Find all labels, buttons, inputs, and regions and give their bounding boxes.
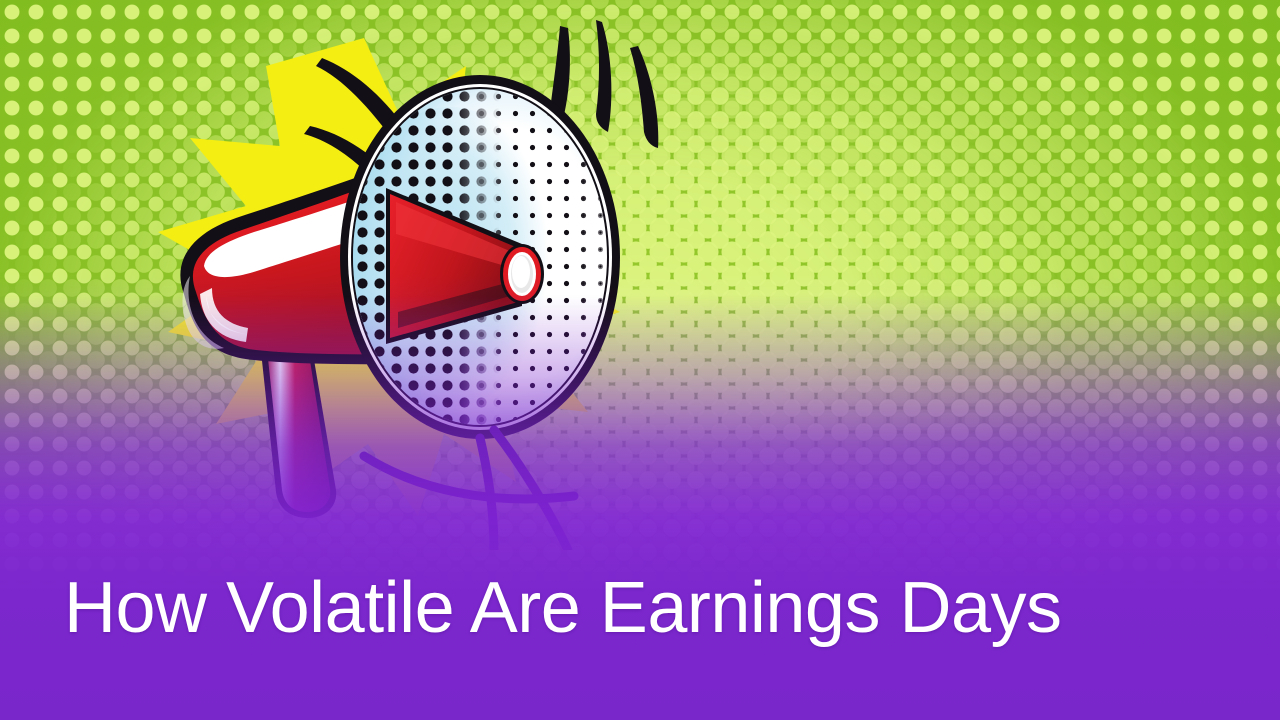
megaphone-illustration [150, 20, 720, 550]
thumbnail-canvas: How Volatile Are Earnings Days [0, 0, 1280, 720]
page-title: How Volatile Are Earnings Days [64, 572, 1244, 644]
